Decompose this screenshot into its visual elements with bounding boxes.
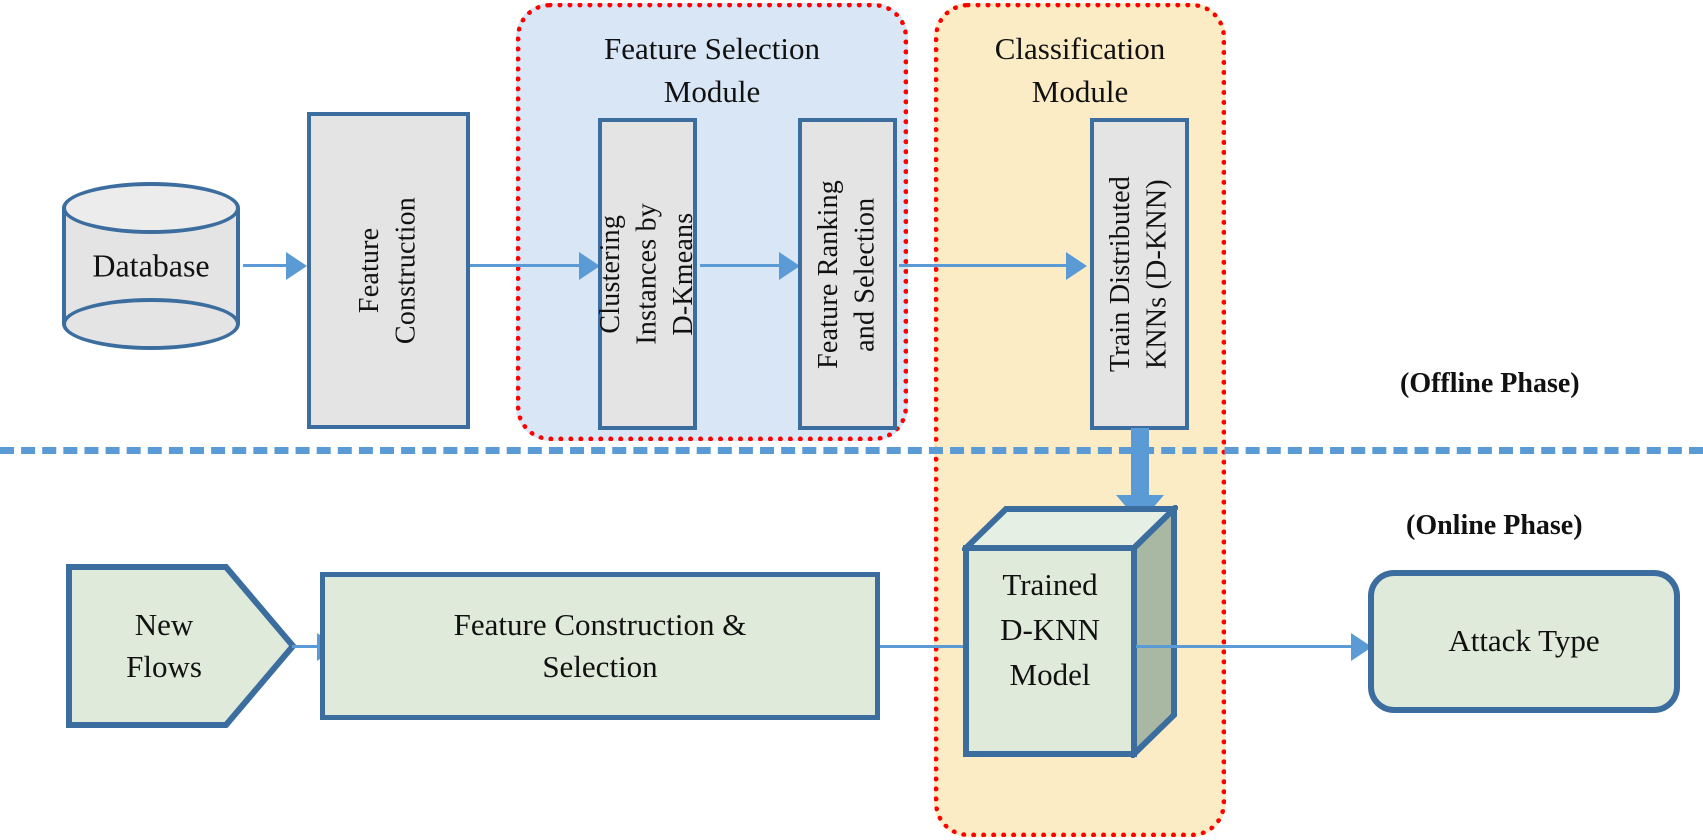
arrow-new-flows-to-feature-construction-selection xyxy=(292,645,318,648)
classification-module-title: Classification Module xyxy=(939,28,1221,114)
online-phase-label: (Online Phase) xyxy=(1406,510,1583,542)
clustering-instances-box: Clustering Instances by D-Kmeans xyxy=(598,118,697,430)
feature-construction-label: Feature Construction xyxy=(352,197,425,344)
train-distributed-knn-box: Train Distributed KNNs (D-KNN) xyxy=(1090,118,1189,430)
feature-construction-selection-label: Feature Construction & Selection xyxy=(454,604,747,688)
feature-construction-selection-box: Feature Construction & Selection xyxy=(320,572,880,720)
database-label: Database xyxy=(62,248,240,285)
arrow-trained-model-to-attack-type xyxy=(1136,645,1352,648)
arrow-clustering-to-ranking xyxy=(700,264,780,267)
arrow-database-to-feature-construction xyxy=(243,264,287,267)
feature-selection-module-title: Feature Selection Module xyxy=(521,28,903,114)
train-distributed-knn-label: Train Distributed KNNs (D-KNN) xyxy=(1103,176,1176,372)
arrow-feature-construction-to-clustering xyxy=(470,264,580,267)
database-cylinder: Database xyxy=(62,182,240,350)
database-top-ellipse xyxy=(62,182,240,234)
trained-dknn-model-label: Trained D-KNN Model xyxy=(966,563,1134,698)
attack-type-label: Attack Type xyxy=(1448,620,1599,662)
feature-construction-box: Feature Construction xyxy=(307,112,470,429)
diagram-canvas: Feature Selection Module Classification … xyxy=(0,0,1703,840)
feature-ranking-box: Feature Ranking and Selection xyxy=(798,118,897,430)
phase-divider xyxy=(0,447,1703,454)
arrow-feature-construction-selection-to-trained-model xyxy=(880,645,966,648)
feature-ranking-label: Feature Ranking and Selection xyxy=(811,180,884,369)
new-flows-shape: New Flows xyxy=(66,564,296,728)
arrow-train-knn-to-trained-model xyxy=(1131,428,1149,496)
database-bottom-ellipse xyxy=(62,298,240,350)
new-flows-label: New Flows xyxy=(66,604,262,688)
clustering-instances-label: Clustering Instances by D-Kmeans xyxy=(593,203,702,345)
attack-type-box[interactable]: Attack Type xyxy=(1368,570,1680,713)
arrow-ranking-to-train-knn xyxy=(899,264,1067,267)
offline-phase-label: (Offline Phase) xyxy=(1400,368,1580,400)
trained-dknn-model-cube: Trained D-KNN Model xyxy=(962,505,1178,758)
